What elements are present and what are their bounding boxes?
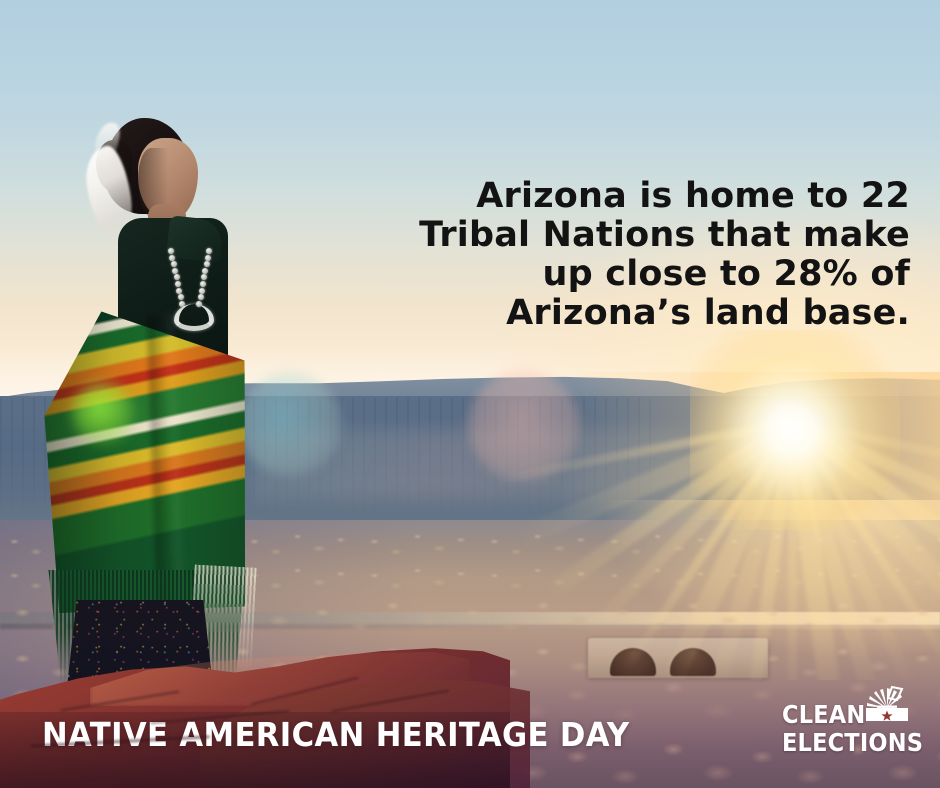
necklace-bead (171, 261, 177, 267)
logo-line-2: ELECTIONS (782, 729, 897, 756)
squash-blossom-necklace (162, 246, 218, 324)
necklace-bead (206, 248, 212, 254)
necklace-bead (169, 255, 175, 261)
necklace-bead (179, 301, 185, 307)
headline-text: Arizona is home to 22 Tribal Nations tha… (350, 177, 910, 333)
lens-flare-orb-green (72, 382, 134, 444)
necklace-bead (199, 288, 205, 294)
headline-line-1: Arizona is home to 22 (350, 177, 910, 216)
necklace-bead (205, 255, 211, 261)
logo-line-1: CLEAN (782, 702, 865, 728)
naja-pendant (174, 304, 214, 331)
necklace-bead (200, 281, 206, 287)
necklace-bead (204, 261, 210, 267)
necklace-bead (168, 248, 174, 254)
headline-line-4: Arizona’s land base. (350, 294, 910, 333)
necklace-bead (198, 294, 204, 300)
headline-line-3: up close to 28% of (350, 255, 910, 294)
necklace-bead (176, 288, 182, 294)
necklace-bead (178, 294, 184, 300)
necklace-bead (172, 268, 178, 274)
clean-elections-logo[interactable]: CLEAN ELECTIONS (782, 698, 910, 756)
necklace-bead (175, 281, 181, 287)
headline-line-2: Tribal Nations that make (350, 216, 910, 255)
necklace-bead (174, 274, 180, 280)
necklace-bead (202, 268, 208, 274)
lens-flare-orb-peach (468, 370, 580, 482)
caption-banner: NATIVE AMERICAN HERITAGE DAY (42, 715, 630, 754)
necklace-bead (201, 274, 207, 280)
poster-image: Arizona is home to 22 Tribal Nations tha… (0, 0, 940, 788)
ballot-box-sunburst-icon (864, 686, 910, 730)
